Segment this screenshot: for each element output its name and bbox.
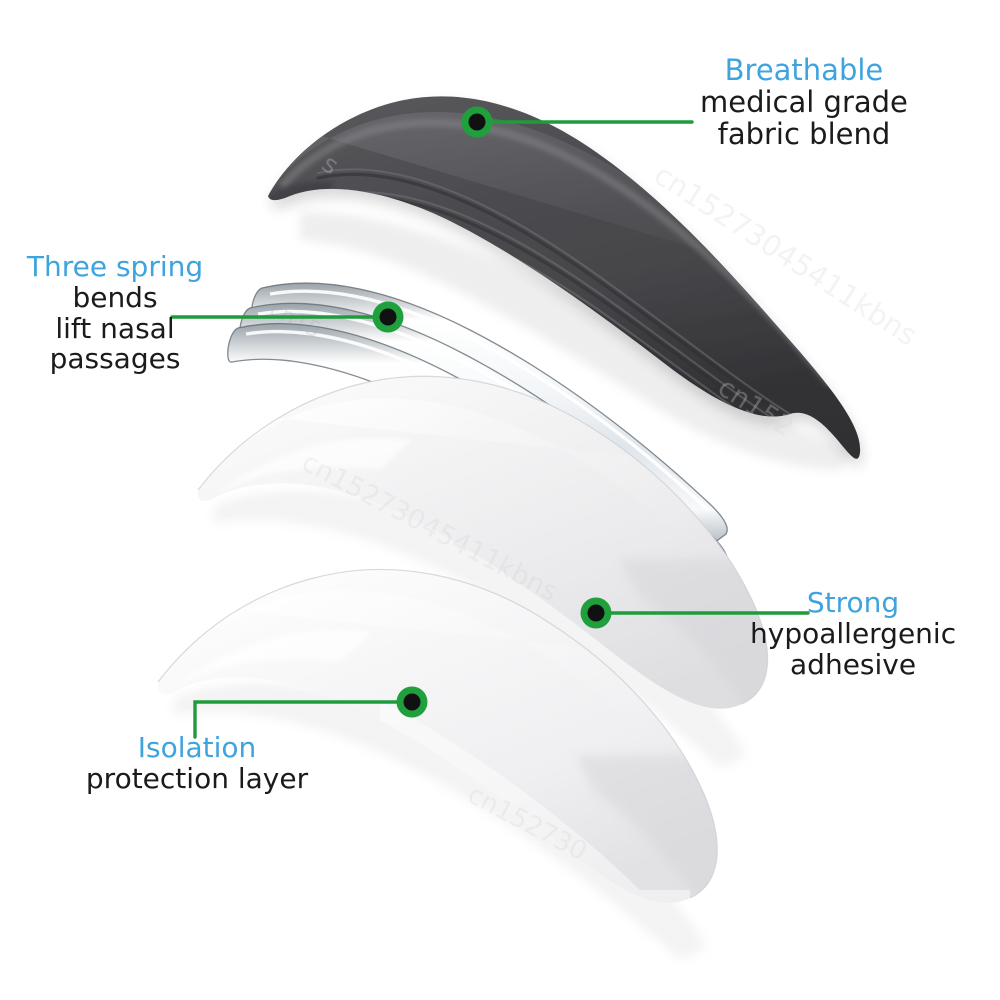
- callout-adhesive-text: Strong hypoallergenic adhesive: [750, 588, 956, 680]
- callout-isolation-text: Isolation protection layer: [62, 733, 332, 795]
- callout-three-spring-line3: passages: [10, 344, 220, 375]
- callout-isolation-line1: protection layer: [62, 764, 332, 795]
- callout-three-spring-line2: lift nasal: [10, 314, 220, 345]
- infographic-canvas: cn15273045411kbns cn152 s cn15: [0, 0, 1000, 1000]
- callout-breathable-text: Breathable medical grade fabric blend: [700, 55, 908, 151]
- callout-three-spring-text: Three spring bends lift nasal passages: [10, 252, 220, 375]
- callout-adhesive-line2: adhesive: [750, 650, 956, 681]
- callout-three-spring-line1: bends: [10, 283, 220, 314]
- callout-breathable-heading: Breathable: [700, 55, 908, 87]
- marker-breathable: [462, 107, 493, 138]
- marker-isolation: [397, 687, 428, 718]
- callout-three-spring-heading: Three spring: [10, 252, 220, 283]
- callout-adhesive-line1: hypoallergenic: [750, 619, 956, 650]
- callout-adhesive-heading: Strong: [750, 588, 956, 619]
- marker-spring: [373, 302, 404, 333]
- callout-isolation-heading: Isolation: [62, 733, 332, 764]
- callout-breathable-line1: medical grade: [700, 87, 908, 119]
- marker-adhesive: [581, 598, 612, 629]
- callout-breathable-line2: fabric blend: [700, 119, 908, 151]
